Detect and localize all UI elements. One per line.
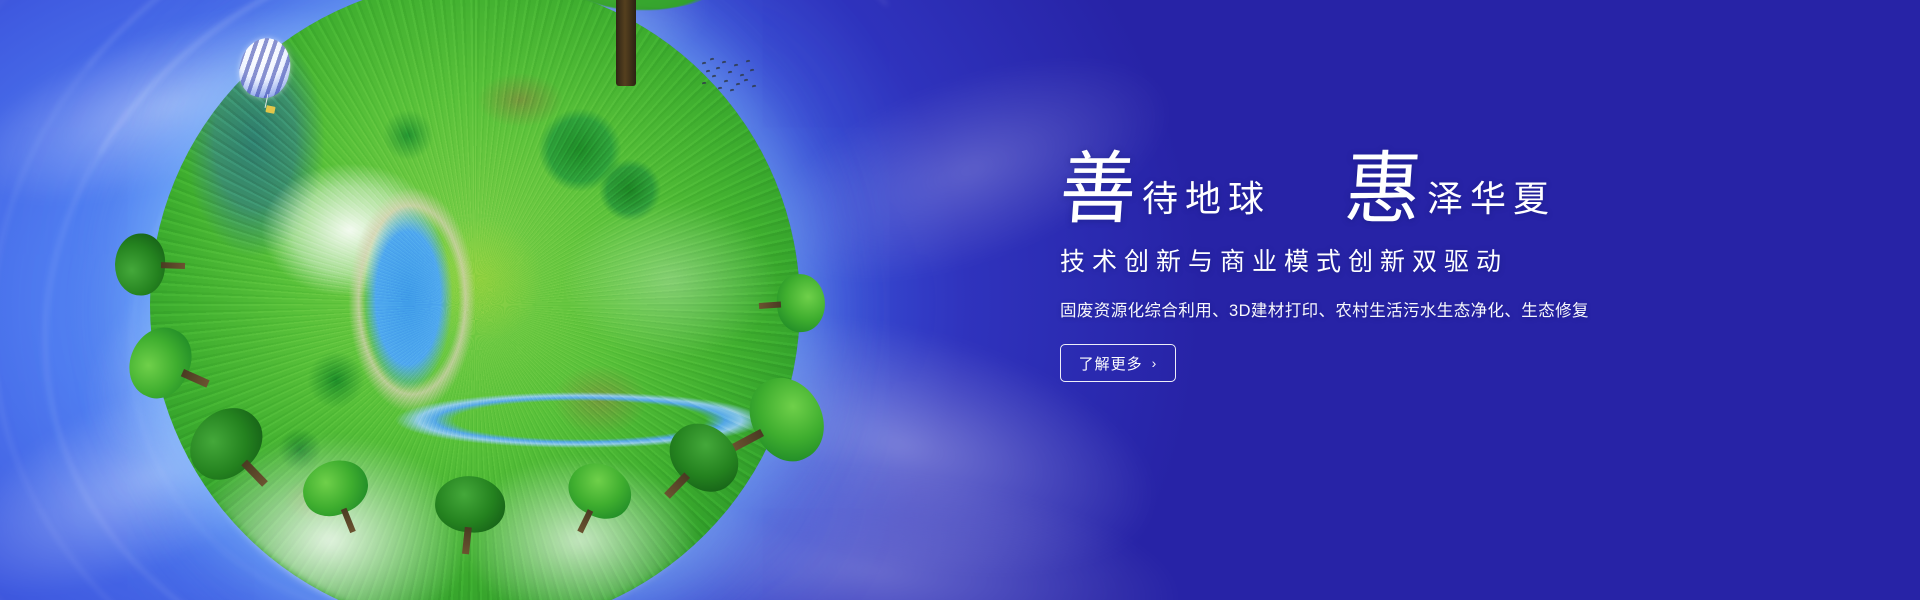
tree-icon — [114, 233, 186, 297]
chevron-right-icon: › — [1152, 355, 1158, 371]
hero-subtitle: 技术创新与商业模式创新双驱动 — [1060, 242, 1700, 278]
headline-lead-char-1: 善 — [1057, 155, 1138, 228]
page-title: 善 待地球 惠 泽华夏 — [1060, 140, 1700, 226]
learn-more-label: 了解更多 — [1079, 353, 1143, 374]
headline-rest-2: 泽华夏 — [1427, 170, 1556, 222]
learn-more-button[interactable]: 了解更多 › — [1060, 344, 1176, 382]
bird-flock-icon — [700, 58, 760, 92]
headline-phrase-1: 善 待地球 — [1060, 156, 1271, 226]
hero-description: 固废资源化综合利用、3D建材打印、农村生活污水生态净化、生态修复 — [1060, 297, 1700, 321]
tree-icon — [757, 272, 827, 334]
hot-air-balloon-icon — [240, 38, 296, 120]
headline-lead-char-2: 惠 — [1342, 155, 1423, 228]
hero-banner: 善 待地球 惠 泽华夏 技术创新与商业模式创新双驱动 固废资源化综合利用、3D建… — [0, 0, 1920, 600]
headline-phrase-2: 惠 泽华夏 — [1345, 156, 1556, 226]
hero-copy: 善 待地球 惠 泽华夏 技术创新与商业模式创新双驱动 固废资源化综合利用、3D建… — [1060, 140, 1700, 382]
tree-icon — [430, 473, 508, 558]
headline-rest-1: 待地球 — [1142, 170, 1271, 222]
